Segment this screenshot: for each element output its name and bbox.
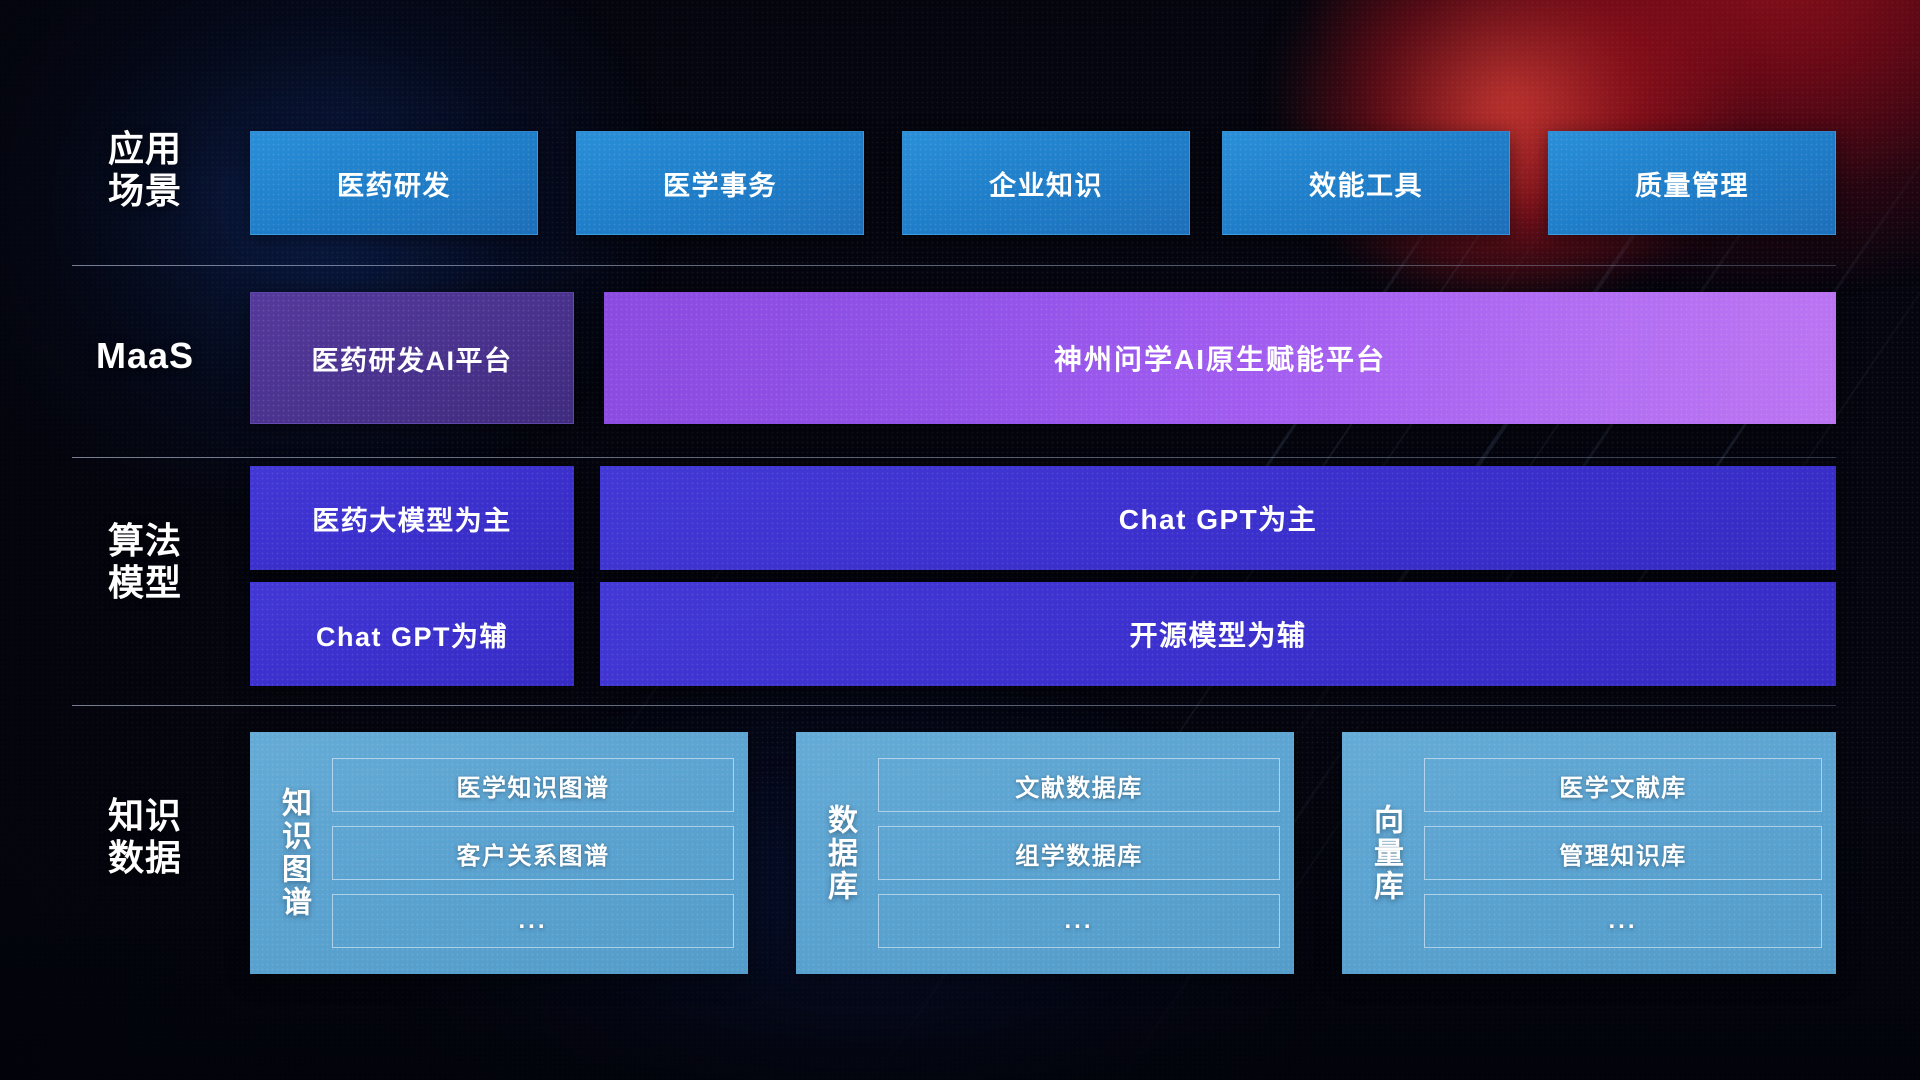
- architecture-diagram: 应用 场景 医药研发 医学事务 企业知识 效能工具 质量管理 MaaS 医药研发…: [0, 0, 1920, 1080]
- divider-algorithm-knowledge: [72, 705, 1836, 706]
- knowledge-item-medical-literature-store-label: 医学文献库: [1559, 768, 1687, 803]
- row-label-application-line1: 应用: [80, 128, 210, 170]
- algo-card-opensource-secondary[interactable]: 开源模型为辅: [600, 582, 1836, 686]
- row-label-algorithm: 算法 模型: [80, 520, 210, 605]
- knowledge-item-customer-relation-graph[interactable]: 客户关系图谱: [332, 826, 734, 880]
- knowledge-panel-vector-store[interactable]: 向量库 医学文献库 管理知识库 ...: [1342, 732, 1836, 974]
- knowledge-panel-vector-store-title: 向量库: [1352, 748, 1418, 958]
- knowledge-panel-database-title: 数据库: [806, 748, 872, 958]
- app-card-4[interactable]: 效能工具: [1222, 131, 1510, 235]
- knowledge-panel-vector-store-items: 医学文献库 管理知识库 ...: [1418, 748, 1822, 958]
- app-card-3[interactable]: 企业知识: [902, 131, 1190, 235]
- knowledge-item-graph-more[interactable]: ...: [332, 894, 734, 948]
- algo-card-chatgpt-secondary-label: Chat GPT为辅: [316, 615, 508, 654]
- knowledge-panel-knowledge-graph-items: 医学知识图谱 客户关系图谱 ...: [326, 748, 734, 958]
- row-label-application-line2: 场景: [80, 170, 210, 212]
- row-label-algorithm-line2: 模型: [80, 562, 210, 604]
- row-label-knowledge-line2: 数据: [80, 837, 210, 879]
- knowledge-item-database-more-label: ...: [1064, 907, 1093, 935]
- maas-card-medical-ai-platform-label: 医药研发AI平台: [312, 339, 513, 378]
- app-card-3-label: 企业知识: [989, 164, 1103, 203]
- algo-card-chatgpt-primary[interactable]: Chat GPT为主: [600, 466, 1836, 570]
- knowledge-item-literature-database[interactable]: 文献数据库: [878, 758, 1280, 812]
- knowledge-item-customer-relation-graph-label: 客户关系图谱: [457, 836, 610, 871]
- divider-maas-algorithm: [72, 457, 1836, 458]
- app-card-1-label: 医药研发: [337, 164, 451, 203]
- row-label-maas-text: MaaS: [80, 335, 210, 377]
- row-label-knowledge: 知识 数据: [80, 795, 210, 880]
- knowledge-panel-database-items: 文献数据库 组学数据库 ...: [872, 748, 1280, 958]
- knowledge-item-omics-database[interactable]: 组学数据库: [878, 826, 1280, 880]
- app-card-4-label: 效能工具: [1309, 164, 1423, 203]
- knowledge-item-vector-more-label: ...: [1608, 907, 1637, 935]
- knowledge-item-literature-database-label: 文献数据库: [1015, 768, 1143, 803]
- knowledge-item-management-knowledge-store-label: 管理知识库: [1559, 836, 1687, 871]
- app-card-1[interactable]: 医药研发: [250, 131, 538, 235]
- knowledge-panel-knowledge-graph[interactable]: 知识图谱 医学知识图谱 客户关系图谱 ...: [250, 732, 748, 974]
- knowledge-panel-database[interactable]: 数据库 文献数据库 组学数据库 ...: [796, 732, 1294, 974]
- row-label-knowledge-line1: 知识: [80, 795, 210, 837]
- knowledge-item-medical-literature-store[interactable]: 医学文献库: [1424, 758, 1822, 812]
- algo-card-opensource-secondary-label: 开源模型为辅: [1129, 614, 1306, 654]
- row-label-algorithm-line1: 算法: [80, 520, 210, 562]
- knowledge-item-graph-more-label: ...: [518, 907, 547, 935]
- maas-card-shenzhou-wenxue-platform-label: 神州问学AI原生赋能平台: [1054, 338, 1386, 378]
- algo-card-chatgpt-primary-label: Chat GPT为主: [1119, 498, 1318, 538]
- algo-card-medical-llm-primary[interactable]: 医药大模型为主: [250, 466, 574, 570]
- maas-card-medical-ai-platform[interactable]: 医药研发AI平台: [250, 292, 574, 424]
- maas-card-shenzhou-wenxue-platform[interactable]: 神州问学AI原生赋能平台: [604, 292, 1836, 424]
- knowledge-item-medical-knowledge-graph[interactable]: 医学知识图谱: [332, 758, 734, 812]
- knowledge-item-vector-more[interactable]: ...: [1424, 894, 1822, 948]
- algo-card-medical-llm-primary-label: 医药大模型为主: [312, 499, 512, 538]
- knowledge-panel-knowledge-graph-title: 知识图谱: [260, 748, 326, 958]
- divider-application-maas: [72, 265, 1836, 266]
- app-card-2-label: 医学事务: [663, 164, 777, 203]
- knowledge-item-omics-database-label: 组学数据库: [1015, 836, 1143, 871]
- app-card-5[interactable]: 质量管理: [1548, 131, 1836, 235]
- algo-card-chatgpt-secondary[interactable]: Chat GPT为辅: [250, 582, 574, 686]
- knowledge-item-management-knowledge-store[interactable]: 管理知识库: [1424, 826, 1822, 880]
- row-label-application: 应用 场景: [80, 128, 210, 213]
- row-label-maas: MaaS: [80, 335, 210, 377]
- app-card-5-label: 质量管理: [1635, 164, 1749, 203]
- knowledge-item-medical-knowledge-graph-label: 医学知识图谱: [457, 768, 610, 803]
- knowledge-item-database-more[interactable]: ...: [878, 894, 1280, 948]
- app-card-2[interactable]: 医学事务: [576, 131, 864, 235]
